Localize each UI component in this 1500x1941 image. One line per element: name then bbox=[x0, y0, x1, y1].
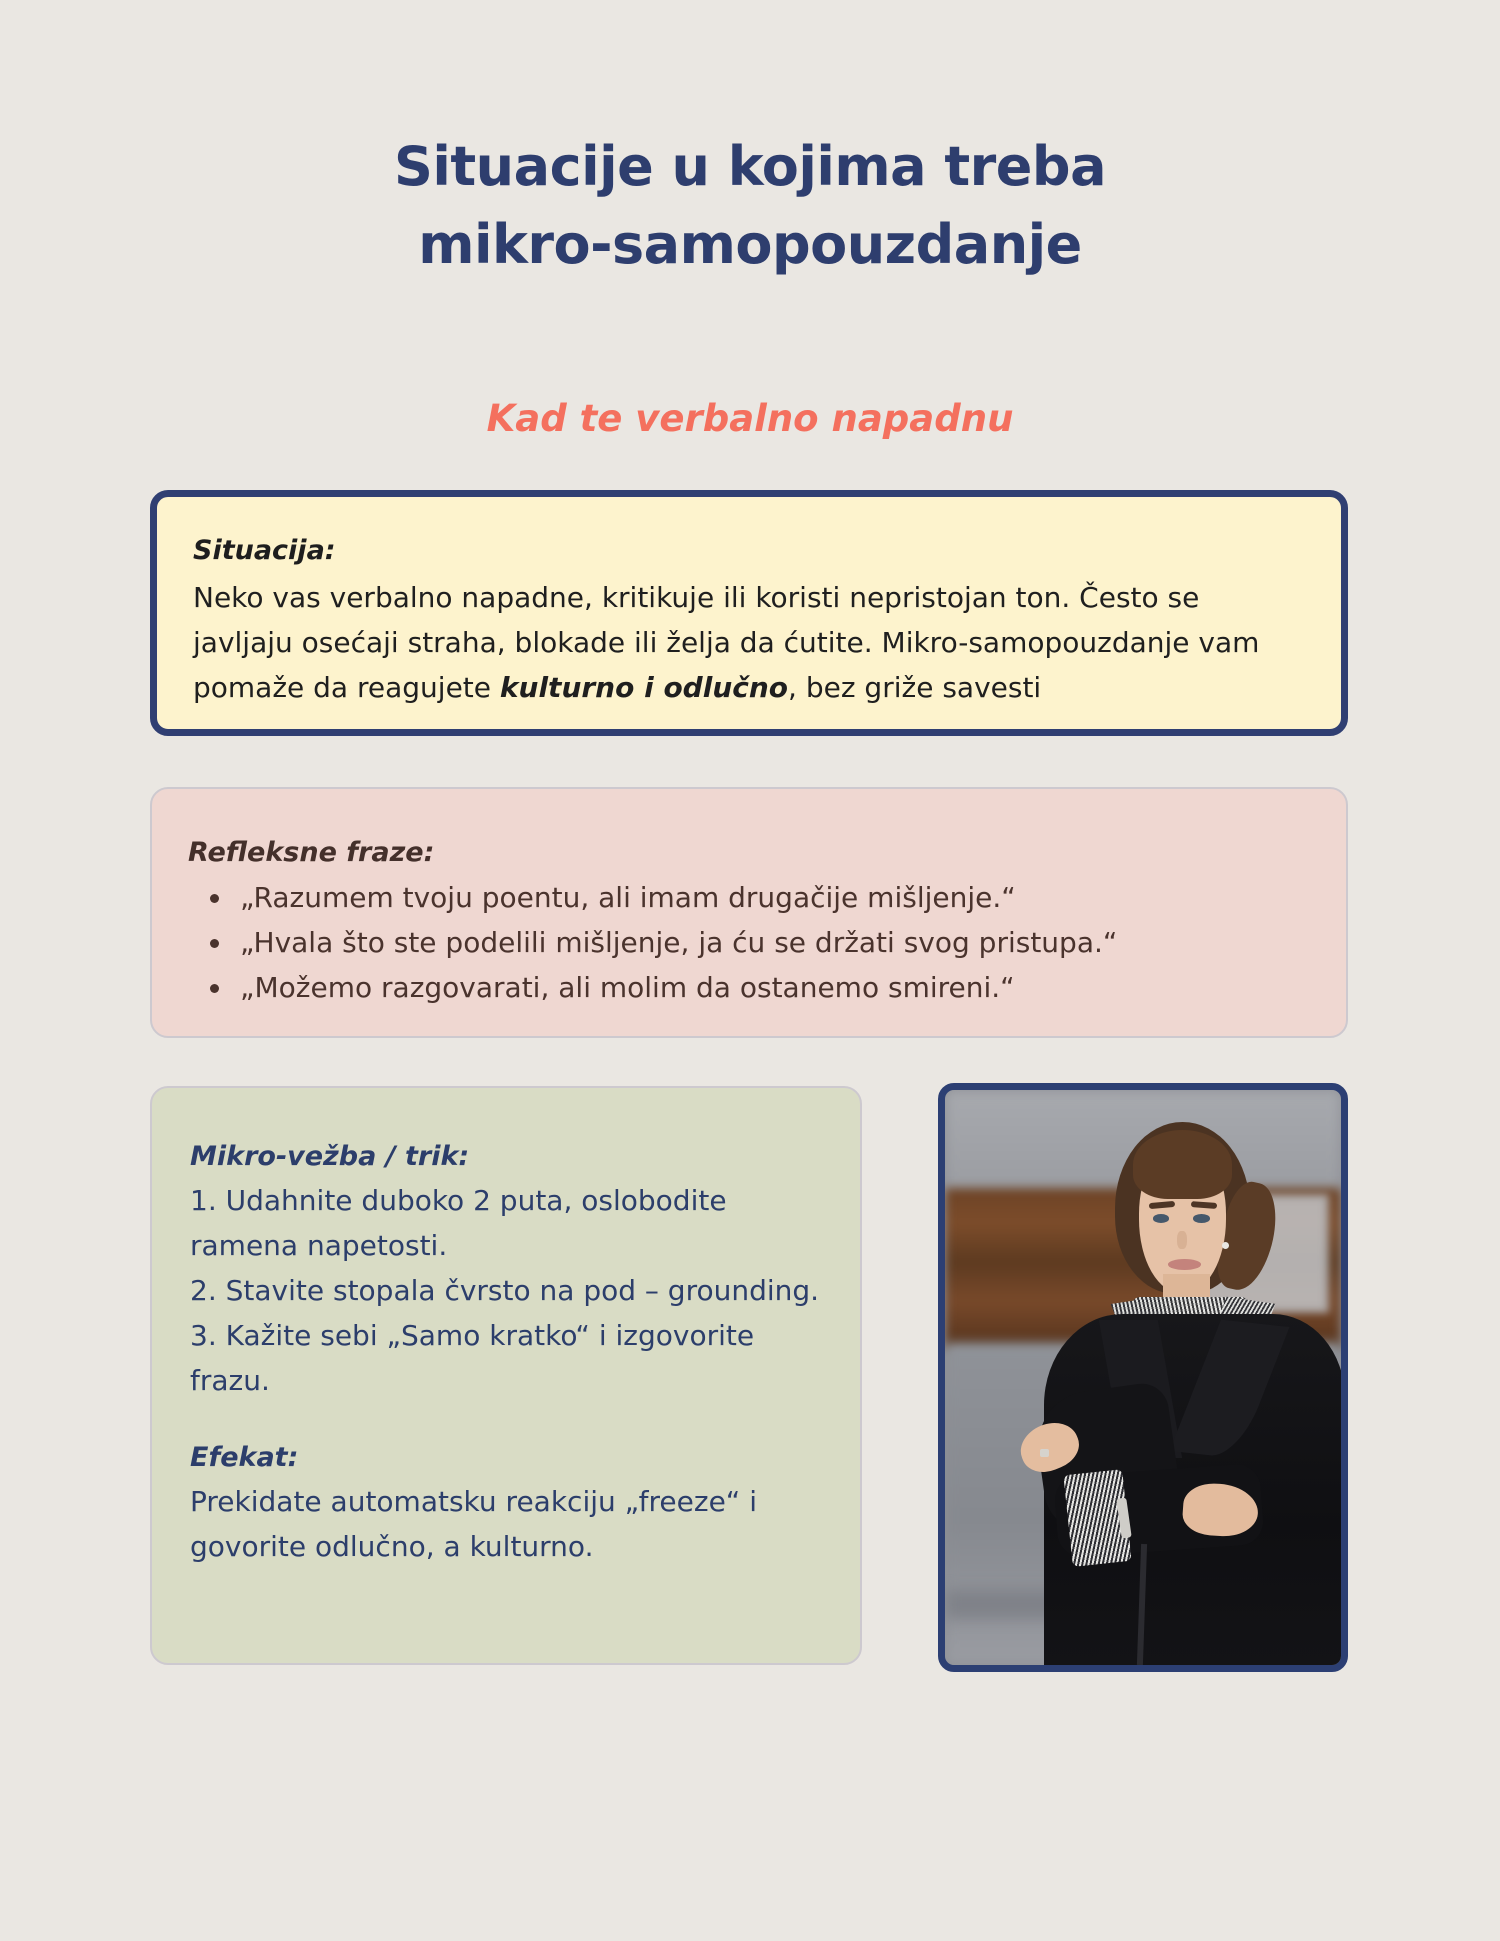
eye-left bbox=[1153, 1214, 1170, 1223]
phrases-heading: Refleksne fraze: bbox=[188, 833, 1310, 873]
list-item: „Možemo razgovarati, ali molim da ostane… bbox=[188, 965, 1310, 1010]
exercise-step-1: 1. Udahnite duboko 2 puta, oslobodite ra… bbox=[190, 1178, 820, 1268]
list-item: „Razumem tvoju poentu, ali imam drugačij… bbox=[188, 875, 1310, 920]
exercise-heading: Mikro-vežba / trik: bbox=[190, 1136, 820, 1178]
nose bbox=[1177, 1231, 1187, 1249]
page-title-line-2: mikro-samopouzdanje bbox=[0, 206, 1500, 284]
woman-figure bbox=[945, 1090, 1341, 1665]
situation-body-emphasis: kulturno i odlučno bbox=[500, 671, 788, 704]
page-title: Situacije u kojima treba mikro-samopouzd… bbox=[0, 128, 1500, 284]
situation-card: Situacija: Neko vas verbalno napadne, kr… bbox=[150, 490, 1348, 736]
situation-body-part2: , bez griže savesti bbox=[788, 671, 1041, 704]
lips bbox=[1168, 1259, 1202, 1270]
eye-right bbox=[1193, 1214, 1210, 1223]
poster-page: Situacije u kojima treba mikro-samopouzd… bbox=[0, 0, 1500, 1941]
list-item: „Hvala što ste podelili mišljenje, ja ću… bbox=[188, 920, 1310, 965]
effect-body: Prekidate automatsku reakciju „freeze“ i… bbox=[190, 1479, 820, 1569]
phrases-card: Refleksne fraze: „Razumem tvoju poentu, … bbox=[150, 787, 1348, 1038]
exercise-spacer bbox=[190, 1403, 820, 1437]
situation-heading: Situacija: bbox=[193, 531, 1305, 571]
page-subtitle: Kad te verbalno napadnu bbox=[0, 395, 1500, 443]
exercise-step-3: 3. Kažite sebi „Samo kratko“ i izgovorit… bbox=[190, 1313, 820, 1403]
exercise-card: Mikro-vežba / trik: 1. Udahnite duboko 2… bbox=[150, 1086, 862, 1665]
phrases-list: „Razumem tvoju poentu, ali imam drugačij… bbox=[188, 875, 1310, 1010]
page-title-line-1: Situacije u kojima treba bbox=[0, 128, 1500, 206]
businesswoman-photo bbox=[938, 1083, 1348, 1672]
situation-body: Neko vas verbalno napadne, kritikuje ili… bbox=[193, 575, 1305, 710]
effect-heading: Efekat: bbox=[190, 1437, 820, 1479]
ring bbox=[1040, 1449, 1049, 1457]
photo-inner bbox=[945, 1090, 1341, 1665]
exercise-step-2: 2. Stavite stopala čvrsto na pod – groun… bbox=[190, 1268, 820, 1313]
hair-front bbox=[1133, 1130, 1232, 1199]
